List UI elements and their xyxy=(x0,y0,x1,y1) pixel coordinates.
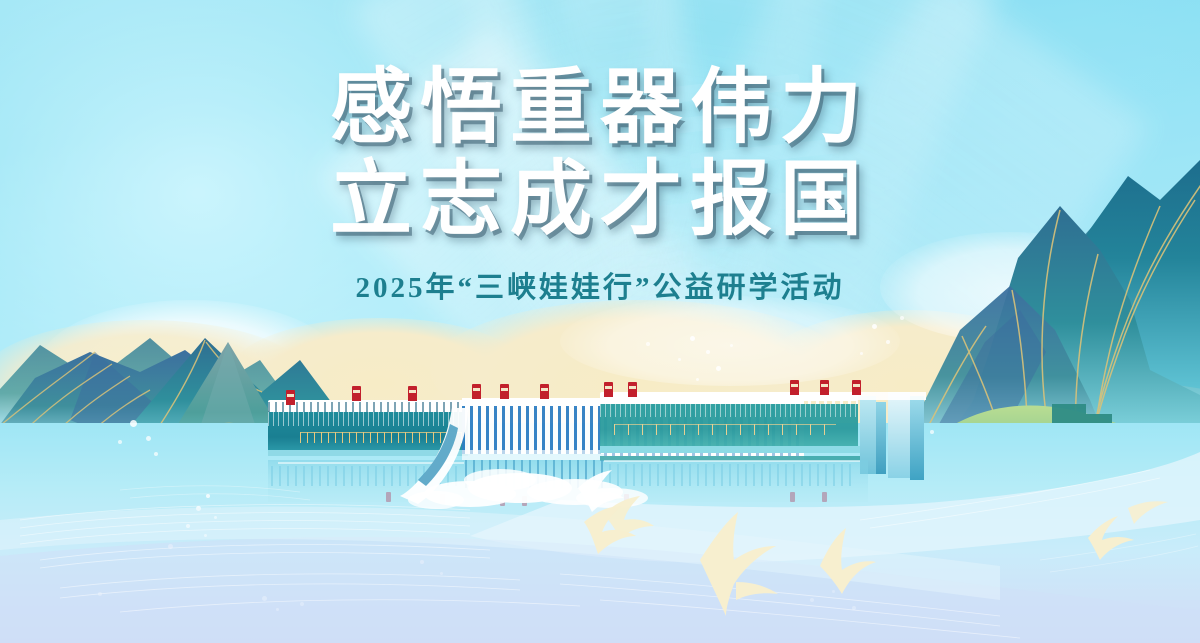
bird-3 xyxy=(820,528,876,594)
bird-6 xyxy=(1128,501,1168,524)
poster-subtitle: 2025年“三峡娃娃行”公益研学活动 xyxy=(0,264,1200,306)
poster-title-line-2: 立志成才报国 xyxy=(0,154,1200,246)
poster-canvas: 感悟重器伟力 立志成才报国 2025年“三峡娃娃行”公益研学活动 xyxy=(0,0,1200,643)
bird-5 xyxy=(1088,516,1134,560)
title-block: 感悟重器伟力 立志成才报国 2025年“三峡娃娃行”公益研学活动 xyxy=(0,62,1200,306)
poster-title-line-1: 感悟重器伟力 xyxy=(0,62,1200,154)
bird-2 xyxy=(700,512,776,616)
bird-2-tail xyxy=(736,582,778,600)
